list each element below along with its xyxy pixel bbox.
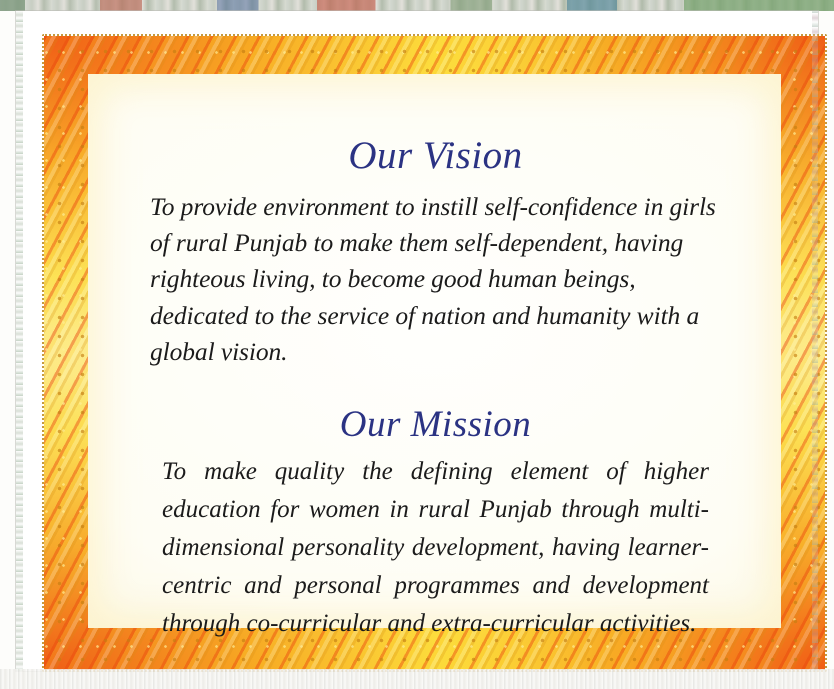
vision-heading: Our Vision bbox=[148, 136, 723, 175]
page-root: Our Vision To provide environment to ins… bbox=[0, 0, 834, 689]
content-area: Our Vision To provide environment to ins… bbox=[148, 130, 723, 570]
paper-panel: Our Vision To provide environment to ins… bbox=[88, 74, 781, 628]
scanned-card: Our Vision To provide environment to ins… bbox=[16, 11, 818, 671]
scan-edge-strip-top bbox=[0, 0, 834, 11]
vision-paragraph: To provide environment to instill self-c… bbox=[150, 189, 719, 370]
scan-edge-strip-bottom bbox=[0, 669, 834, 689]
mission-paragraph: To make quality the defining element of … bbox=[162, 453, 709, 643]
decorative-frame: Our Vision To provide environment to ins… bbox=[42, 34, 827, 672]
mission-heading: Our Mission bbox=[148, 406, 723, 443]
